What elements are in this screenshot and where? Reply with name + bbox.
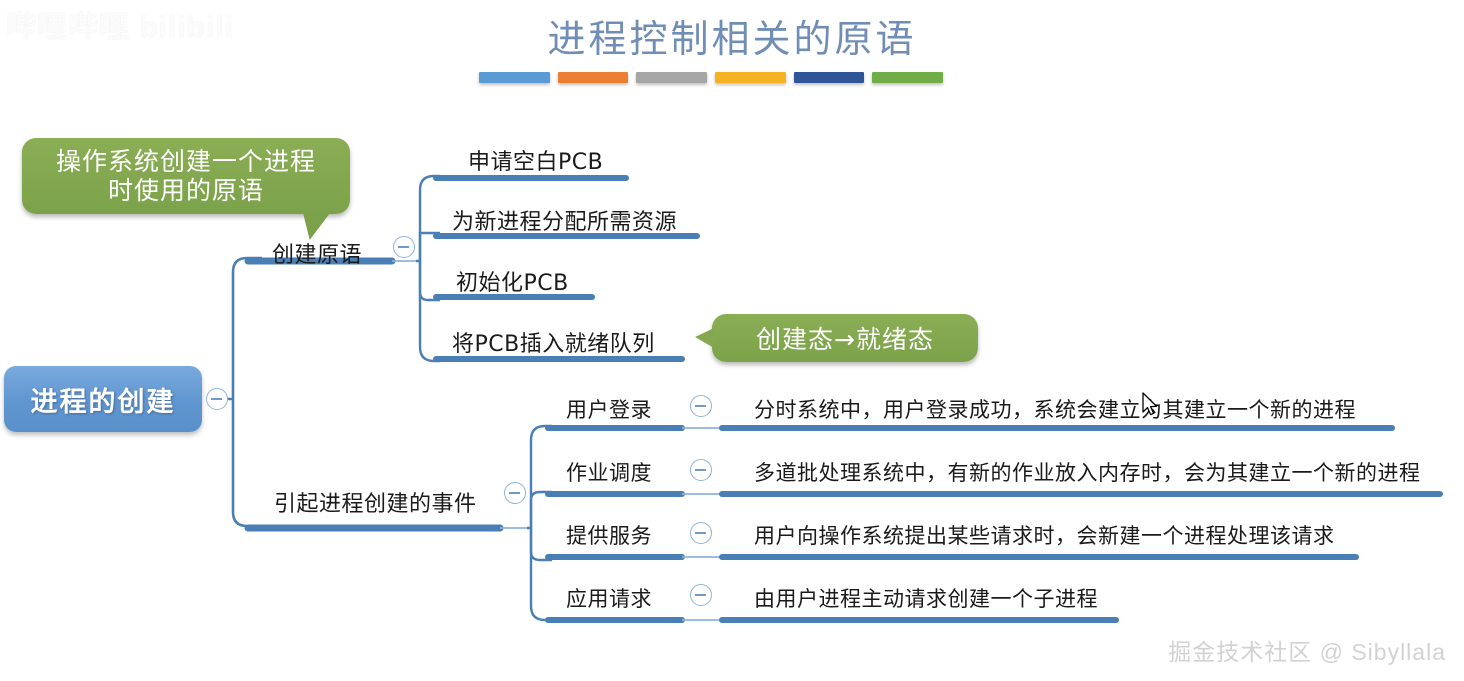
node-application-request-collapse-toggle[interactable] — [690, 584, 712, 606]
detail-provide-service: 用户向操作系统提出某些请求时，会新建一个进程处理该请求 — [754, 520, 1335, 550]
page-title: 进程控制相关的原语 — [0, 8, 1464, 63]
node-job-scheduling-collapse-toggle[interactable] — [690, 459, 712, 481]
root-collapse-toggle[interactable] — [206, 388, 228, 410]
callout-tail-icon — [695, 328, 714, 348]
callout-state-label: 创建态→就绪态 — [756, 320, 934, 356]
callout-primitives-line-1: 操作系统创建一个进程 — [56, 147, 316, 176]
node-allocate-resources[interactable]: 为新进程分配所需资源 — [452, 204, 677, 236]
node-provide-service-collapse-toggle[interactable] — [690, 522, 712, 544]
node-job-scheduling[interactable]: 作业调度 — [566, 457, 652, 487]
callout-os-creates-process: 操作系统创建一个进程 时使用的原语 — [22, 138, 350, 214]
mindmap-canvas: 哔哩哔哩 bilibili 掘金技术社区 @ Sibyllala 进程控制相关的… — [0, 0, 1464, 681]
title-bar-3 — [636, 72, 707, 83]
branch-create-primitive-collapse-toggle[interactable] — [393, 236, 415, 258]
title-decoration-bars — [479, 72, 943, 85]
title-bar-5 — [794, 72, 865, 83]
mouse-cursor-icon — [1142, 392, 1160, 418]
root-node-label: 进程的创建 — [31, 380, 176, 419]
node-insert-pcb-ready-queue[interactable]: 将PCB插入就绪队列 — [452, 326, 655, 358]
title-bar-4 — [715, 72, 786, 83]
title-bar-2 — [558, 72, 629, 83]
root-node-process-creation[interactable]: 进程的创建 — [4, 366, 202, 432]
node-apply-blank-pcb[interactable]: 申请空白PCB — [468, 144, 603, 176]
title-bar-1 — [479, 72, 550, 83]
branch-label-creation-events[interactable]: 引起进程创建的事件 — [274, 486, 477, 518]
node-initialize-pcb[interactable]: 初始化PCB — [456, 265, 569, 297]
juejin-watermark: 掘金技术社区 @ Sibyllala — [1168, 633, 1446, 667]
callout-state-transition: 创建态→就绪态 — [712, 314, 978, 362]
node-application-request[interactable]: 应用请求 — [566, 583, 652, 613]
title-bar-6 — [872, 72, 943, 83]
branch-creation-events-collapse-toggle[interactable] — [504, 482, 526, 504]
callout-primitives-line-2: 时使用的原语 — [56, 176, 316, 205]
detail-user-login: 分时系统中，用户登录成功，系统会建立为其建立一个新的进程 — [754, 394, 1356, 424]
branch-label-create-primitive[interactable]: 创建原语 — [272, 237, 362, 269]
detail-job-scheduling: 多道批处理系统中，有新的作业放入内存时，会为其建立一个新的进程 — [754, 457, 1421, 487]
callout-tail-icon — [294, 210, 333, 240]
node-user-login[interactable]: 用户登录 — [566, 394, 652, 424]
node-provide-service[interactable]: 提供服务 — [566, 520, 652, 550]
detail-application-request: 由用户进程主动请求创建一个子进程 — [754, 583, 1098, 613]
node-user-login-collapse-toggle[interactable] — [690, 395, 712, 417]
